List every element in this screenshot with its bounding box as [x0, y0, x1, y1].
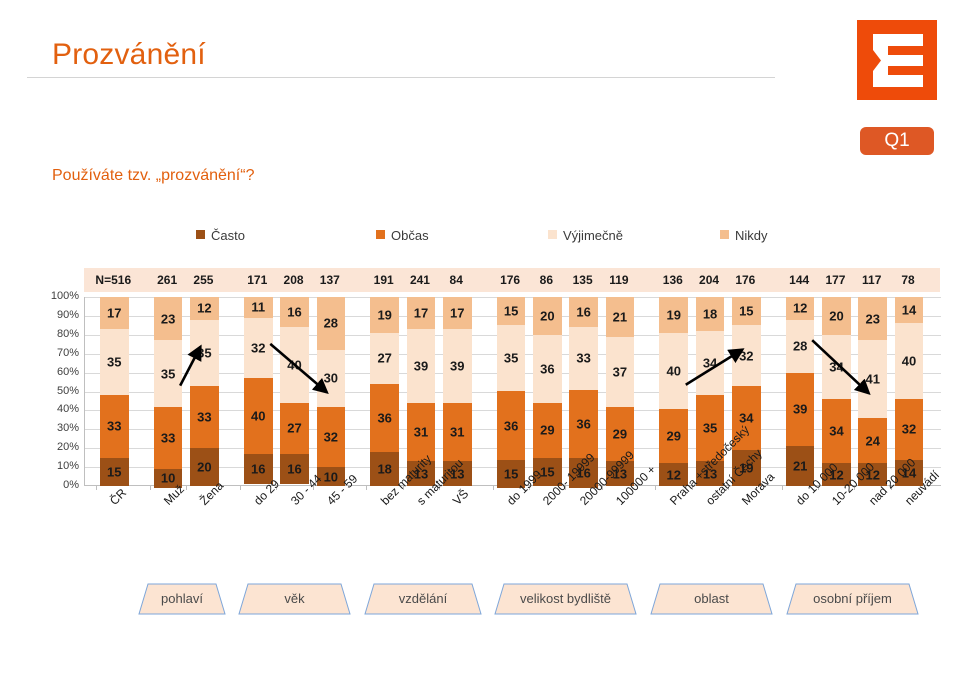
banner-label: věk	[238, 583, 351, 615]
y-axis-tick: 60%	[39, 366, 79, 378]
legend-item-3: Nikdy	[720, 228, 768, 243]
legend-label: Často	[211, 228, 245, 243]
y-axis-tick: 30%	[39, 422, 79, 434]
brand-logo-block: Q1	[857, 20, 937, 140]
y-axis-tick: 40%	[39, 403, 79, 415]
legend-item-0: Často	[196, 228, 245, 243]
sample-size-value: 176	[719, 268, 771, 292]
sample-size-value: 84	[430, 268, 482, 292]
x-axis-tickmark	[150, 486, 151, 490]
group-banner-2[interactable]: vzdělání	[364, 583, 482, 615]
legend-label: Občas	[391, 228, 429, 243]
x-axis-tickmark	[366, 486, 367, 490]
y-axis-tick: 70%	[39, 347, 79, 359]
sample-size-value: 137	[304, 268, 356, 292]
sample-size-band: N=51626125517120813719124184176861351191…	[84, 268, 940, 292]
group-banners: pohlavívěkvzdělánívelikost bydlištěoblas…	[0, 583, 954, 623]
x-axis-tickmark	[493, 486, 494, 490]
legend-swatch-icon	[196, 230, 205, 239]
banner-label: oblast	[650, 583, 773, 615]
trend-arrow-0	[180, 347, 200, 386]
trend-arrow-3	[812, 340, 869, 393]
y-axis-tick: 0%	[39, 479, 79, 491]
cez-logo-icon	[857, 20, 937, 100]
banner-label: osobní příjem	[786, 583, 919, 615]
y-axis-tick: 20%	[39, 441, 79, 453]
group-banner-4[interactable]: oblast	[650, 583, 773, 615]
legend-swatch-icon	[376, 230, 385, 239]
legend-label: Nikdy	[735, 228, 768, 243]
legend-swatch-icon	[548, 230, 557, 239]
y-axis-tick: 50%	[39, 385, 79, 397]
x-axis-labels: ČRMužŽenado 2930 - 4445 - 59bez maturity…	[84, 498, 954, 583]
page-title: Prozvánění	[52, 38, 206, 72]
x-axis-tickmark	[782, 486, 783, 490]
group-banner-1[interactable]: věk	[238, 583, 351, 615]
banner-label: velikost bydliště	[494, 583, 637, 615]
legend-swatch-icon	[720, 230, 729, 239]
y-axis-tick: 100%	[39, 290, 79, 302]
chart-container: N=51626125517120813719124184176861351191…	[60, 268, 950, 493]
y-axis-tick: 80%	[39, 328, 79, 340]
legend-label: Výjimečně	[563, 228, 623, 243]
sample-size-value: N=516	[87, 268, 139, 292]
plot-area: 0%10%20%30%40%50%60%70%80%90%100%1735331…	[84, 297, 941, 486]
trend-arrow-1	[270, 344, 327, 392]
sample-size-value: 78	[882, 268, 934, 292]
banner-label: vzdělání	[364, 583, 482, 615]
x-axis-tickmark	[186, 486, 187, 490]
group-banner-5[interactable]: osobní příjem	[786, 583, 919, 615]
x-axis-tickmark	[96, 486, 97, 490]
y-axis-tick: 90%	[39, 309, 79, 321]
legend-item-1: Občas	[376, 228, 429, 243]
x-axis-tickmark	[655, 486, 656, 490]
group-banner-3[interactable]: velikost bydliště	[494, 583, 637, 615]
annotation-arrows	[85, 297, 941, 486]
title-divider	[27, 77, 775, 78]
y-axis-tick: 10%	[39, 460, 79, 472]
sample-size-value: 119	[593, 268, 645, 292]
legend-item-2: Výjimečně	[548, 228, 623, 243]
question-text: Používáte tzv. „prozvánění“?	[52, 167, 254, 185]
x-axis-tickmark	[240, 486, 241, 490]
chart-legend: ČastoObčasVýjimečněNikdy	[196, 228, 796, 248]
trend-arrow-2	[686, 350, 743, 385]
sample-size-value: 255	[177, 268, 229, 292]
group-banner-0[interactable]: pohlaví	[138, 583, 226, 615]
q1-badge: Q1	[860, 127, 934, 155]
banner-label: pohlaví	[138, 583, 226, 615]
